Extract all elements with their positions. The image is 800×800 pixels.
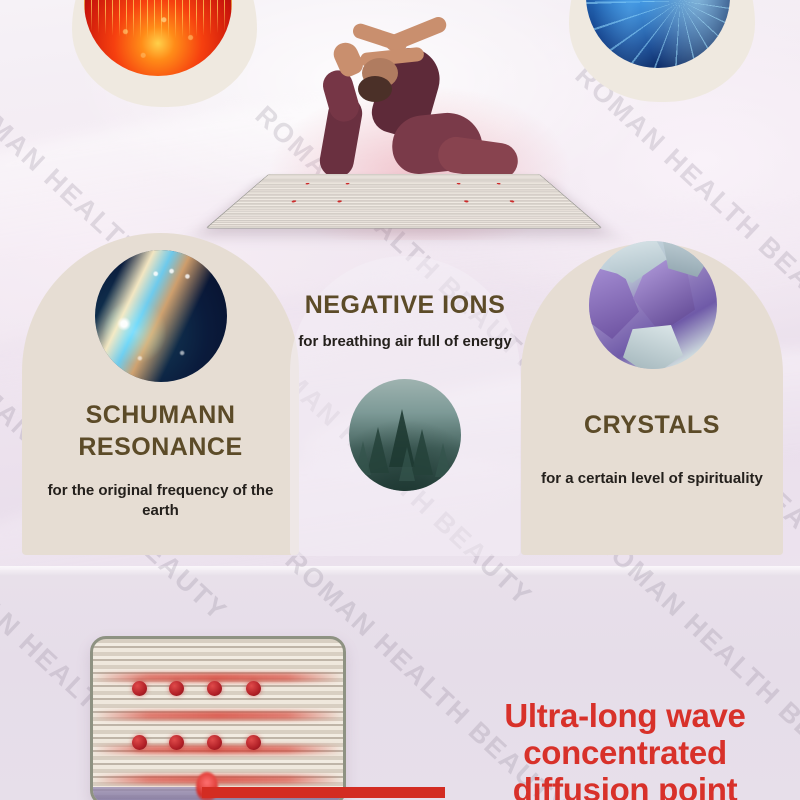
headline-line-1: Ultra-long wave [455,698,795,735]
mat-dot [305,183,310,185]
mat-dot [464,200,469,202]
therapy-mat-top-view [90,636,346,800]
headline-line-3: diffusion point [455,772,795,800]
galaxy-cosmic-icon [95,250,227,382]
feature-card-negative-ions[interactable]: NEGATIVE IONS for breathing air full of … [290,256,520,556]
section-divider [0,566,800,576]
yoga-hair-bun [358,76,392,102]
mat-dot [345,183,349,185]
emitter-point [132,735,147,750]
card-subtitle-schumann: for the original frequency of the earth [22,481,299,522]
infographic-canvas: ROMAN HEALTH BEAUTY ROMAN HEALTH BEAUTY … [0,0,800,800]
card-title-negative-ions: NEGATIVE IONS [290,289,520,321]
pine-tree [435,443,451,477]
emitter-point [207,681,222,696]
crystal-shard [623,325,683,369]
card-title-crystals: CRYSTALS [521,409,783,441]
emitter-point [132,681,147,696]
red-energy-particles-icon [84,0,232,76]
blue-energy-field-icon [586,0,730,68]
emitter-point [246,735,261,750]
amethyst-crystals-icon [589,241,717,369]
pine-tree [355,441,371,475]
therapy-mat-hero [205,174,603,229]
emitter-point [169,681,184,696]
mat-dot [509,200,515,202]
mat-wave-band [93,711,343,720]
mat-dot [496,183,501,185]
card-subtitle-crystals: for a certain level of spirituality [521,469,783,489]
emitter-point [246,681,261,696]
mat-dot [291,200,297,202]
emitter-point [207,735,222,750]
feature-card-schumann[interactable]: SCHUMANN RESONANCE for the original freq… [22,233,299,555]
mat-dot [337,200,342,202]
emitter-point [169,735,184,750]
accent-connector-bar [202,787,445,798]
card-subtitle-negative-ions: for breathing air full of energy [290,332,520,352]
misty-pine-forest-icon [349,379,461,491]
pine-tree [399,447,415,481]
feature-card-crystals[interactable]: CRYSTALS for a certain level of spiritua… [521,243,783,555]
bottom-headline: Ultra-long wave concentrated diffusion p… [455,698,795,800]
mat-wave-band [93,673,343,682]
card-title-schumann: SCHUMANN RESONANCE [22,399,299,463]
mat-wave-band [93,775,343,784]
headline-line-2: concentrated [455,735,795,772]
mat-dot [456,183,460,185]
